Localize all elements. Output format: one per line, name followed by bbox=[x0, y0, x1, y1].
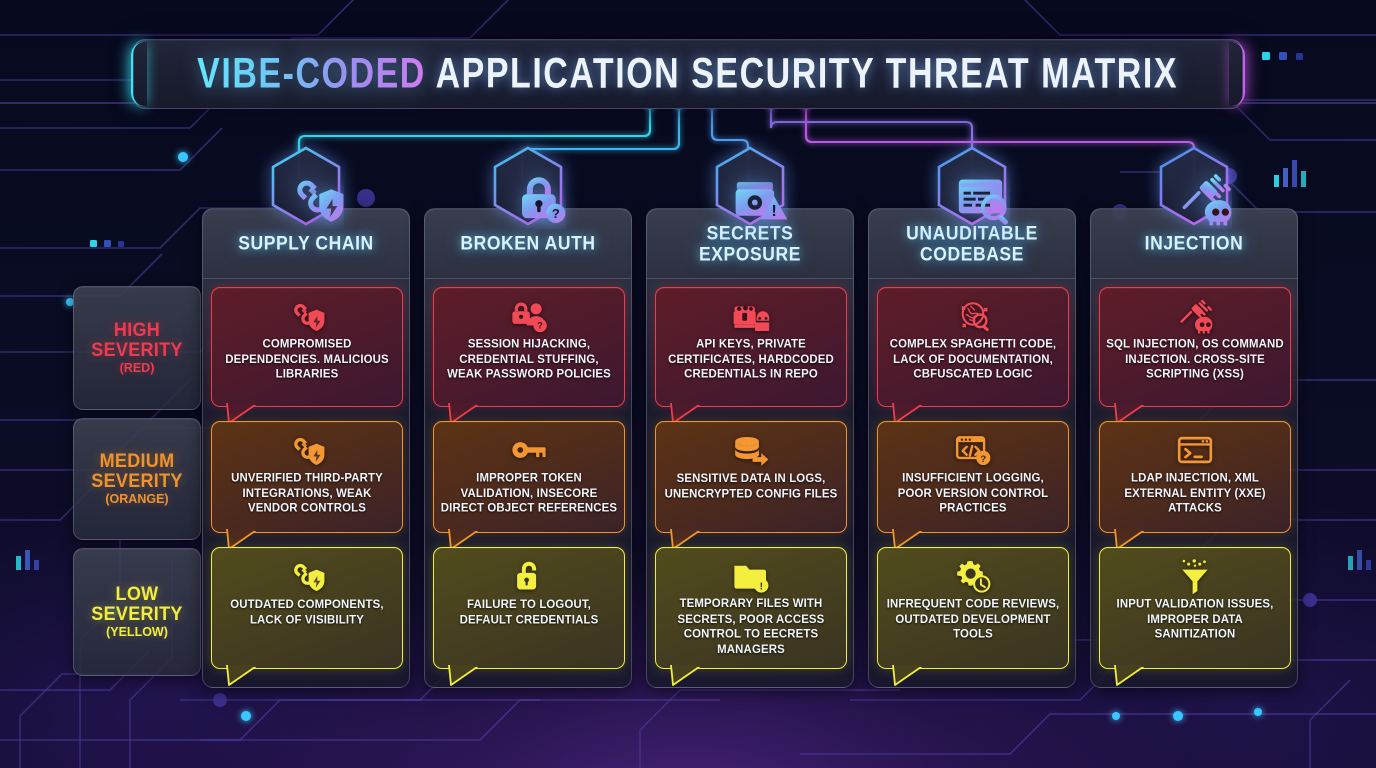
bubble-tail bbox=[447, 665, 481, 685]
terminal-window-icon bbox=[1176, 430, 1214, 470]
bubble-tail bbox=[891, 403, 925, 423]
dot-cluster-right bbox=[1262, 52, 1303, 60]
syringe-skull-icon bbox=[1156, 145, 1232, 229]
key-icon bbox=[510, 430, 548, 470]
threat-cell-high[interactable]: COMPLEX SPAGHETTI CODE, LACK OF DOCUMENT… bbox=[877, 287, 1069, 407]
severity-name: HIGHSEVERITY bbox=[91, 319, 182, 359]
threat-description: TEMPORARY FILES WITH SECRETS, POOR ACCES… bbox=[662, 597, 840, 658]
threat-description: LDAP INJECTION, XML EXTERNAL ENTITY (XXE… bbox=[1106, 471, 1284, 517]
title-highlight: VIBE-CODED bbox=[198, 50, 427, 98]
threat-description: API KEYS, PRIVATE CERTIFICATES, HARDCODE… bbox=[662, 337, 840, 383]
column-title: SUPPLY CHAIN bbox=[238, 233, 374, 254]
threat-cell-low[interactable]: OUTDATED COMPONENTS, LACK OF VISIBILITY bbox=[211, 547, 403, 669]
threat-column-unauditable-codebase[interactable]: UNAUDITABLE CODEBASE COMPLEX SPAGHETTI C… bbox=[868, 208, 1076, 688]
threat-description: INPUT VALIDATION ISSUES, IMPROPER DATA S… bbox=[1106, 597, 1284, 643]
folder-warning-icon: ! bbox=[732, 556, 770, 596]
threat-description: SQL INJECTION, OS COMMAND INJECTION. CRO… bbox=[1106, 337, 1284, 383]
threat-column-supply-chain[interactable]: SUPPLY CHAIN COMPROMISED DEPENDENCIES. M… bbox=[202, 208, 410, 688]
page-title: VIBE-CODED APPLICATION SECURITY THREAT M… bbox=[198, 50, 1179, 99]
bar-glyph-left bbox=[16, 550, 39, 570]
threat-cell-medium[interactable]: SENSITIVE DATA IN LOGS, UNENCRYPTED CONF… bbox=[655, 421, 847, 533]
severity-label-high: HIGHSEVERITY (RED) bbox=[73, 286, 201, 410]
bubble-tail bbox=[447, 529, 481, 549]
bubble-tail bbox=[1113, 665, 1147, 685]
threat-cell-medium[interactable]: IMPROPER TOKEN VALIDATION, INSECORE DIRE… bbox=[433, 421, 625, 533]
threat-cell-low[interactable]: ! TEMPORARY FILES WITH SECRETS, POOR ACC… bbox=[655, 547, 847, 669]
bubble-tail bbox=[669, 665, 703, 685]
bubble-tail bbox=[225, 665, 259, 685]
code-window-question-icon: ? bbox=[954, 430, 992, 470]
svg-text:?: ? bbox=[537, 321, 543, 331]
threat-cell-high[interactable]: ? SESSION HIJACKING, CREDENTIAL STUFFING… bbox=[433, 287, 625, 407]
bubble-tail bbox=[447, 403, 481, 423]
infographic-canvas: VIBE-CODED APPLICATION SECURITY THREAT M… bbox=[0, 0, 1376, 768]
svg-text:?: ? bbox=[552, 206, 560, 221]
column-title: BROKEN AUTH bbox=[460, 233, 595, 254]
bubble-tail bbox=[669, 403, 703, 423]
database-export-icon bbox=[732, 430, 770, 470]
bar-glyph-right bbox=[1274, 160, 1306, 187]
threat-description: SENSITIVE DATA IN LOGS, UNENCRYPTED CONF… bbox=[662, 471, 840, 501]
threat-cell-medium[interactable]: UNVERIFIED THIRD-PARTY INTEGRATIONS, WEA… bbox=[211, 421, 403, 533]
bubble-tail bbox=[669, 529, 703, 549]
severity-label-medium: MEDIUMSEVERITY (ORANGE) bbox=[73, 418, 201, 540]
bubble-tail bbox=[225, 403, 259, 423]
bubble-tail bbox=[225, 529, 259, 549]
column-title: INJECTION bbox=[1145, 233, 1244, 254]
threat-description: IMPROPER TOKEN VALIDATION, INSECORE DIRE… bbox=[440, 471, 618, 517]
bubble-tail bbox=[1113, 529, 1147, 549]
threat-cell-medium[interactable]: ? INSUFFICIENT LOGGING, POOR VERSION CON… bbox=[877, 421, 1069, 533]
severity-label-low: LOWSEVERITY (YELLOW) bbox=[73, 548, 201, 676]
threat-cell-low[interactable]: FAILURE TO LOGOUT, DEFAULT CREDENTIALS bbox=[433, 547, 625, 669]
title-rest: APPLICATION SECURITY THREAT MATRIX bbox=[426, 50, 1178, 98]
threat-description: SESSION HIJACKING, CREDENTIAL STUFFING, … bbox=[440, 337, 618, 383]
treasure-chest-hacker-icon bbox=[732, 296, 770, 336]
threat-cell-high[interactable]: API KEYS, PRIVATE CERTIFICATES, HARDCODE… bbox=[655, 287, 847, 407]
threat-description: FAILURE TO LOGOUT, DEFAULT CREDENTIALS bbox=[440, 597, 618, 627]
severity-color-label: (ORANGE) bbox=[105, 492, 168, 506]
chain-shield-icon bbox=[268, 145, 344, 229]
vault-warning-icon: ! bbox=[712, 145, 788, 229]
threat-description: UNVERIFIED THIRD-PARTY INTEGRATIONS, WEA… bbox=[218, 471, 396, 517]
bubble-tail bbox=[891, 665, 925, 685]
tangled-brain-magnifier-icon bbox=[954, 296, 992, 336]
severity-color-label: (YELLOW) bbox=[106, 625, 168, 639]
threat-cell-medium[interactable]: LDAP INJECTION, XML EXTERNAL ENTITY (XXE… bbox=[1099, 421, 1291, 533]
bubble-tail bbox=[1113, 403, 1147, 423]
threat-column-secrets-exposure[interactable]: ! SECRETS EXPOSURE API KEYS, PRIVATE CER… bbox=[646, 208, 854, 688]
syringe-skull-icon bbox=[1176, 296, 1214, 336]
unlocked-padlock-icon bbox=[510, 556, 548, 596]
gear-clock-icon bbox=[954, 556, 992, 596]
chain-shield-icon bbox=[288, 430, 326, 470]
bar-glyph-right-mid bbox=[1348, 550, 1371, 570]
lock-question-icon: ? bbox=[490, 145, 566, 229]
threat-description: COMPROMISED DEPENDENCIES. MALICIOUS LIBR… bbox=[218, 337, 396, 383]
threat-description: INSUFFICIENT LOGGING, POOR VERSION CONTR… bbox=[884, 471, 1062, 517]
threat-cell-low[interactable]: INFREQUENT CODE REVIEWS, OUTDATED DEVELO… bbox=[877, 547, 1069, 669]
svg-text:!: ! bbox=[760, 581, 763, 592]
severity-color-label: (RED) bbox=[120, 361, 155, 375]
severity-name: MEDIUMSEVERITY bbox=[91, 450, 182, 490]
dot-cluster-left bbox=[90, 240, 124, 247]
threat-cell-high[interactable]: SQL INJECTION, OS COMMAND INJECTION. CRO… bbox=[1099, 287, 1291, 407]
severity-name: LOWSEVERITY bbox=[91, 583, 182, 623]
threat-description: INFREQUENT CODE REVIEWS, OUTDATED DEVELO… bbox=[884, 597, 1062, 643]
chain-shield-icon bbox=[288, 296, 326, 336]
page-title-bar: VIBE-CODED APPLICATION SECURITY THREAT M… bbox=[133, 39, 1243, 109]
threat-cell-low[interactable]: INPUT VALIDATION ISSUES, IMPROPER DATA S… bbox=[1099, 547, 1291, 669]
bubble-tail bbox=[891, 529, 925, 549]
threat-cell-high[interactable]: COMPROMISED DEPENDENCIES. MALICIOUS LIBR… bbox=[211, 287, 403, 407]
threat-description: COMPLEX SPAGHETTI CODE, LACK OF DOCUMENT… bbox=[884, 337, 1062, 383]
chain-shield-icon bbox=[288, 556, 326, 596]
svg-text:?: ? bbox=[980, 454, 986, 465]
threat-column-injection[interactable]: INJECTION SQL INJECTION, OS COMMAND INJE… bbox=[1090, 208, 1298, 688]
threat-column-broken-auth[interactable]: ? BROKEN AUTH ? SESSION HIJACKING, CREDE… bbox=[424, 208, 632, 688]
threat-description: OUTDATED COMPONENTS, LACK OF VISIBILITY bbox=[218, 597, 396, 627]
svg-text:!: ! bbox=[772, 203, 777, 220]
code-window-magnifier-icon bbox=[934, 145, 1010, 229]
lock-user-question-icon: ? bbox=[510, 296, 548, 336]
funnel-filter-icon bbox=[1176, 556, 1214, 596]
